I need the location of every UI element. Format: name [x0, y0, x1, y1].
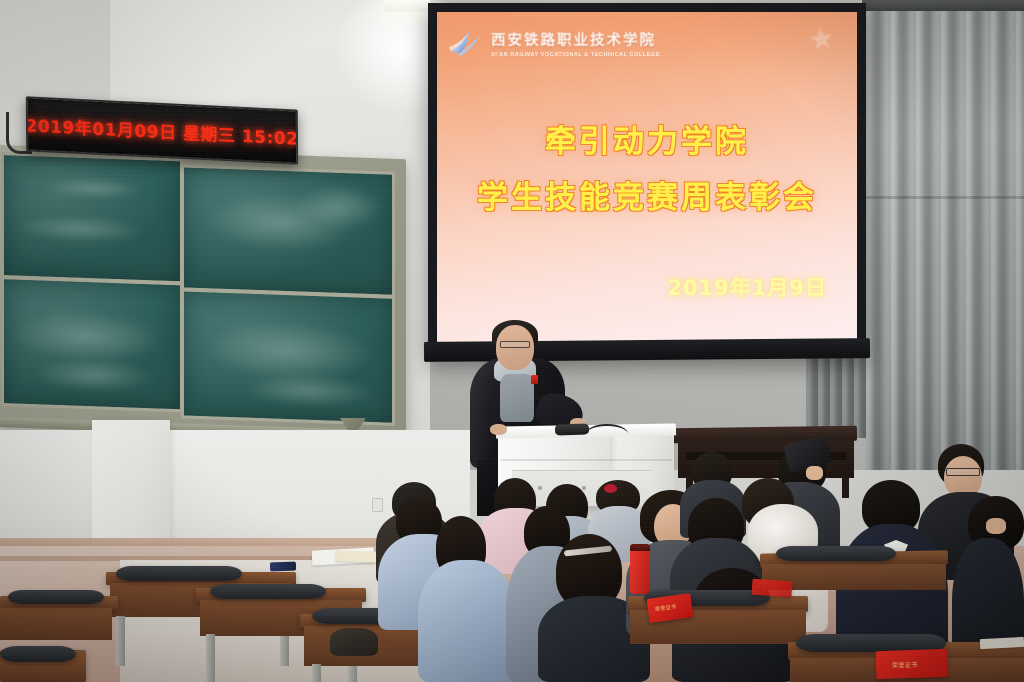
camera-operator-hand: [806, 466, 823, 480]
piano-leg-right: [842, 474, 849, 498]
led-clock-text: 2019年01月09日 星期三 15:02: [26, 111, 298, 149]
chair-r1: [776, 546, 896, 561]
man-glasses-icon: [946, 468, 980, 476]
chair-far-left: [8, 590, 104, 604]
desk-leg-l1a: [116, 616, 125, 666]
curtain-seam: [866, 196, 1024, 199]
curtain-rod: [862, 0, 1024, 11]
speaker-lapel-badge: [531, 375, 538, 384]
chair-l2: [210, 584, 326, 599]
screen-border: [428, 3, 866, 358]
wall-outlet-1: [372, 498, 383, 512]
certificate-label-2: 荣誉证书: [892, 660, 918, 670]
chalkboard-panel-tr: [181, 164, 395, 297]
chair-l1: [116, 566, 242, 581]
window-curtain: [866, 0, 1024, 470]
desk-leg-l3a: [312, 664, 321, 682]
notebook-on-desk-left: [336, 550, 380, 563]
podium-knob-1: [538, 486, 542, 490]
podium-seam: [500, 459, 672, 461]
chair-foreground-left: [0, 646, 76, 662]
certificate-on-desk: 荣誉证书: [876, 649, 949, 679]
audience-light-blue-coat-2: [418, 560, 516, 682]
bag-under-desk: [330, 628, 378, 656]
podium-knob-2: [582, 486, 586, 490]
desk-far-left-face: [0, 608, 112, 640]
phone-on-desk: [270, 562, 296, 572]
desk-microphone-icon: [555, 423, 589, 435]
hair-clip-icon: [604, 484, 617, 493]
chalkboard-panel-tl: [1, 152, 183, 284]
chalkboard-panel-bl: [1, 276, 183, 412]
speaker-hand-left: [490, 424, 507, 435]
certificate-label-1: 荣誉证书: [655, 603, 677, 613]
screen-bottom-bar: [424, 338, 870, 362]
red-thermos: [630, 548, 650, 594]
desk-leg-l2a: [206, 634, 215, 682]
classroom-photo-scene: 西安铁路职业技术学院 XI'AN RAILWAY VOCATIONAL & TE…: [0, 0, 1024, 682]
red-thermos-cap: [630, 544, 650, 551]
projection-screen: 西安铁路职业技术学院 XI'AN RAILWAY VOCATIONAL & TE…: [428, 3, 866, 358]
chalkboard-panel-br: [181, 288, 395, 425]
chalkboard-frame: [0, 145, 406, 441]
chalkboard: [0, 152, 406, 434]
certificate-partial: [751, 579, 792, 598]
chalkboard-panels: [1, 152, 399, 434]
speaker-glasses-icon: [500, 341, 530, 348]
man-right-edge-hand: [986, 518, 1006, 534]
speaker-sweater: [500, 374, 534, 422]
wall-pillar: [92, 420, 170, 550]
